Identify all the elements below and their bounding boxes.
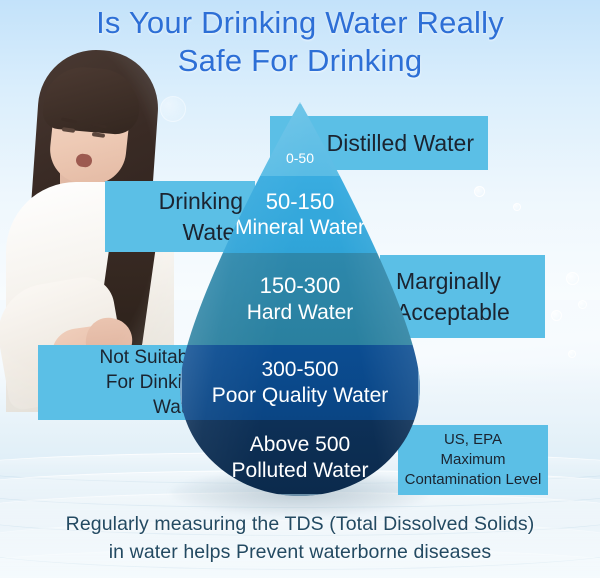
bubble-icon	[551, 310, 562, 321]
droplet-band-50-150-range: 50-150	[266, 189, 335, 215]
footer-line-2: in water helps Prevent waterborne diseas…	[0, 538, 600, 566]
bubble-icon	[566, 272, 579, 285]
droplet-band-300-500-name: Poor Quality Water	[212, 383, 389, 409]
callout-epa-maximum-contamination-level: US, EPA Maximum Contamination Level	[398, 425, 548, 495]
title-line-2: Safe For Drinking	[0, 42, 600, 80]
droplet-band-50-150-name: Mineral Water	[235, 215, 365, 241]
droplet-band-150-300-range: 150-300	[260, 272, 341, 299]
footer-caption: Regularly measuring the TDS (Total Disso…	[0, 510, 600, 566]
bubble-icon	[578, 300, 587, 309]
callout-marginally-acceptable-line-1: Marginally	[396, 266, 501, 297]
title-line-1: Is Your Drinking Water Really	[96, 5, 504, 40]
droplet-band-above-500-range: Above 500	[250, 432, 350, 458]
callout-drinking-water-line-1: Drinking	[159, 186, 243, 217]
droplet-band-300-500-range: 300-500	[261, 357, 338, 383]
bubble-icon	[568, 350, 576, 358]
callout-epa-line-2: Maximum	[440, 450, 505, 470]
callout-distilled-water-label: Distilled Water	[327, 129, 474, 157]
callout-epa-line-3: Contamination Level	[405, 470, 542, 490]
callout-epa-line-1: US, EPA	[444, 430, 502, 450]
page-title: Is Your Drinking Water Really Safe For D…	[0, 4, 600, 80]
footer-line-1: Regularly measuring the TDS (Total Disso…	[66, 513, 535, 535]
bubble-icon	[474, 186, 485, 197]
infographic-canvas: Is Your Drinking Water Really Safe For D…	[0, 0, 600, 578]
bubble-icon	[513, 203, 521, 211]
callout-marginally-acceptable-line-2: Acceptable	[396, 297, 510, 328]
droplet-band-150-300-name: Hard Water	[247, 299, 354, 326]
droplet-band-above-500-name: Polluted Water	[232, 458, 369, 484]
droplet-band-300-500: 300-500 Poor Quality Water	[180, 345, 420, 420]
